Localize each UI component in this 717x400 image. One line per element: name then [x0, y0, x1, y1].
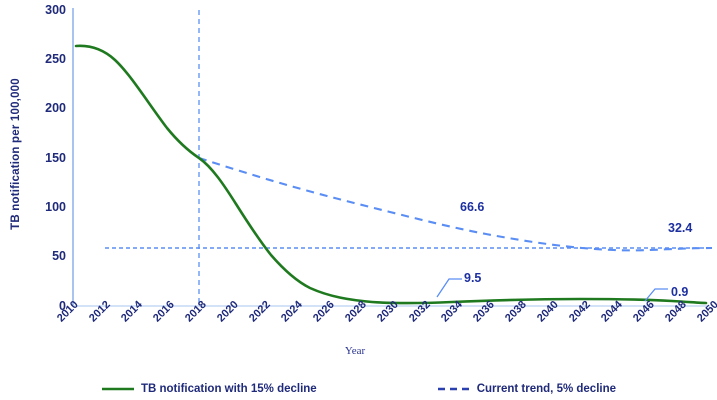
x-tick: 2012 [87, 299, 113, 325]
legend-dashed-line-icon [437, 384, 471, 394]
x-tick: 2050 [695, 299, 717, 325]
x-tick: 2040 [535, 299, 561, 325]
data-label-trend-mid: 66.6 [460, 200, 484, 214]
x-tick: 2036 [471, 299, 497, 325]
x-axis-ticks: 2010 2012 2014 2016 2018 2020 2022 2024 … [0, 0, 717, 400]
x-tick: 2044 [599, 299, 625, 325]
x-axis-title: Year [320, 345, 390, 357]
legend-label: Current trend, 5% decline [477, 383, 616, 395]
data-label-trend-end: 32.4 [668, 221, 692, 235]
x-tick: 2022 [247, 299, 273, 325]
chart-container: 300 250 200 150 100 50 0 TB notification… [0, 0, 717, 400]
x-tick: 2034 [439, 299, 465, 325]
x-tick: 2026 [311, 299, 337, 325]
x-tick: 2028 [343, 299, 369, 325]
x-tick: 2016 [151, 299, 177, 325]
x-tick: 2010 [55, 299, 81, 325]
data-label-decline-end: 0.9 [671, 285, 688, 299]
x-tick: 2032 [407, 299, 433, 325]
x-tick: 2046 [631, 299, 657, 325]
legend-item-current-trend: Current trend, 5% decline [437, 383, 616, 395]
x-tick: 2042 [567, 299, 593, 325]
legend-item-tb-notification: TB notification with 15% decline [101, 383, 317, 395]
x-tick: 2020 [215, 299, 241, 325]
legend-label: TB notification with 15% decline [141, 383, 317, 395]
legend-solid-line-icon [101, 384, 135, 394]
x-tick: 2024 [279, 299, 305, 325]
x-tick: 2018 [183, 299, 209, 325]
x-tick: 2030 [375, 299, 401, 325]
data-label-decline-mid: 9.5 [464, 271, 481, 285]
chart-legend: TB notification with 15% decline Current… [0, 378, 717, 400]
x-tick: 2048 [663, 299, 689, 325]
x-tick: 2038 [503, 299, 529, 325]
x-tick: 2014 [119, 299, 145, 325]
